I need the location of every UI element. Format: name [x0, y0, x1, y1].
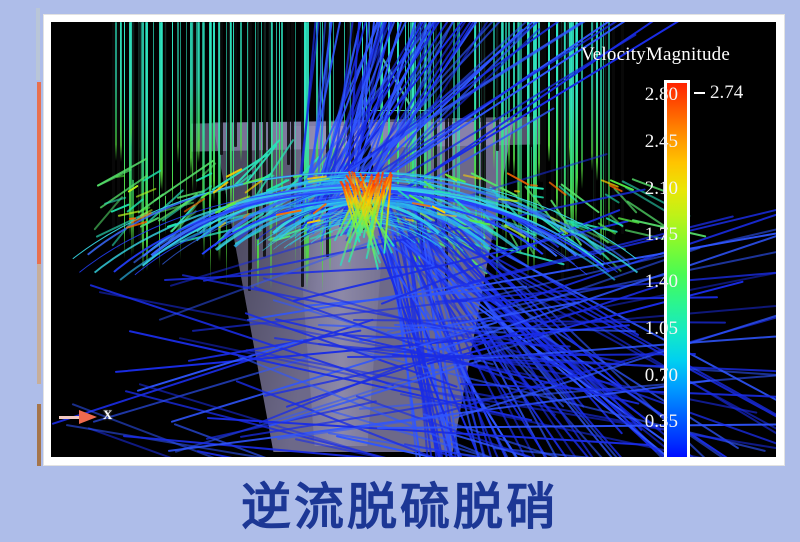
figure-root: X VelocityMagnitude 2.74 0.00 2.802.452.… — [0, 0, 800, 542]
jet-fleck — [213, 181, 229, 194]
jet-fleck — [265, 178, 289, 191]
jet-fleck — [618, 217, 640, 224]
axis-label-x: X — [103, 407, 112, 423]
jet-fleck — [125, 221, 147, 229]
jet-fleck — [214, 202, 236, 214]
jet-fleck — [128, 185, 139, 193]
jet-fleck — [453, 198, 470, 213]
jet-fleck — [195, 172, 212, 182]
jet-fleck — [560, 227, 569, 235]
jet-fleck — [412, 202, 431, 207]
jet-fleck — [533, 195, 544, 199]
jet-fleck — [293, 175, 302, 178]
jet-fleck — [434, 190, 451, 194]
axis-indicator: X — [59, 407, 129, 429]
jet-fleck — [424, 180, 435, 190]
jet-fleck — [143, 169, 162, 182]
jet-fleck — [548, 181, 567, 196]
jet-fleck — [116, 175, 125, 178]
jet-fleck — [514, 190, 520, 193]
jet-fleck — [549, 216, 560, 223]
edge-artifact-bottom — [37, 404, 41, 466]
jet-fleck — [474, 195, 497, 204]
axis-arrow-head-icon — [79, 410, 97, 424]
jet-fleck — [462, 174, 481, 180]
edge-artifact-top — [36, 8, 40, 80]
jet-fleck — [405, 218, 414, 222]
jet-fleck — [306, 219, 320, 224]
image-frame: X VelocityMagnitude 2.74 0.00 2.802.452.… — [43, 14, 785, 466]
jet-fleck — [201, 191, 211, 199]
edge-artifact-salmon — [37, 82, 41, 264]
jet-fleck — [242, 212, 250, 218]
jet-fleck — [458, 226, 470, 229]
jet-fleck — [437, 213, 457, 217]
edge-artifact-mid — [37, 264, 41, 384]
jet-fleck — [398, 189, 410, 199]
caption-text: 逆流脱硫脱硝 — [241, 482, 559, 532]
jet-fleck — [276, 209, 302, 216]
jet-fleck — [420, 212, 436, 222]
jet-fleck — [184, 197, 206, 212]
jet-fleck — [604, 193, 620, 204]
nozzle-jet-streamlines — [51, 22, 776, 457]
jet-fleck — [598, 222, 617, 235]
caption-bar: 逆流脱硫脱硝 — [0, 472, 800, 542]
jet-fleck — [167, 223, 177, 228]
jet-fleck — [225, 168, 242, 178]
jet-fleck — [503, 224, 526, 238]
render-canvas: X VelocityMagnitude 2.74 0.00 2.802.452.… — [51, 22, 776, 457]
jet-fleck — [135, 188, 156, 198]
cfd-scene — [51, 22, 776, 457]
jet-fleck — [312, 203, 327, 215]
jet-fleck — [498, 198, 518, 202]
jet-fleck — [218, 221, 226, 228]
jet-fleck — [528, 186, 544, 190]
jet-fleck — [506, 173, 529, 187]
